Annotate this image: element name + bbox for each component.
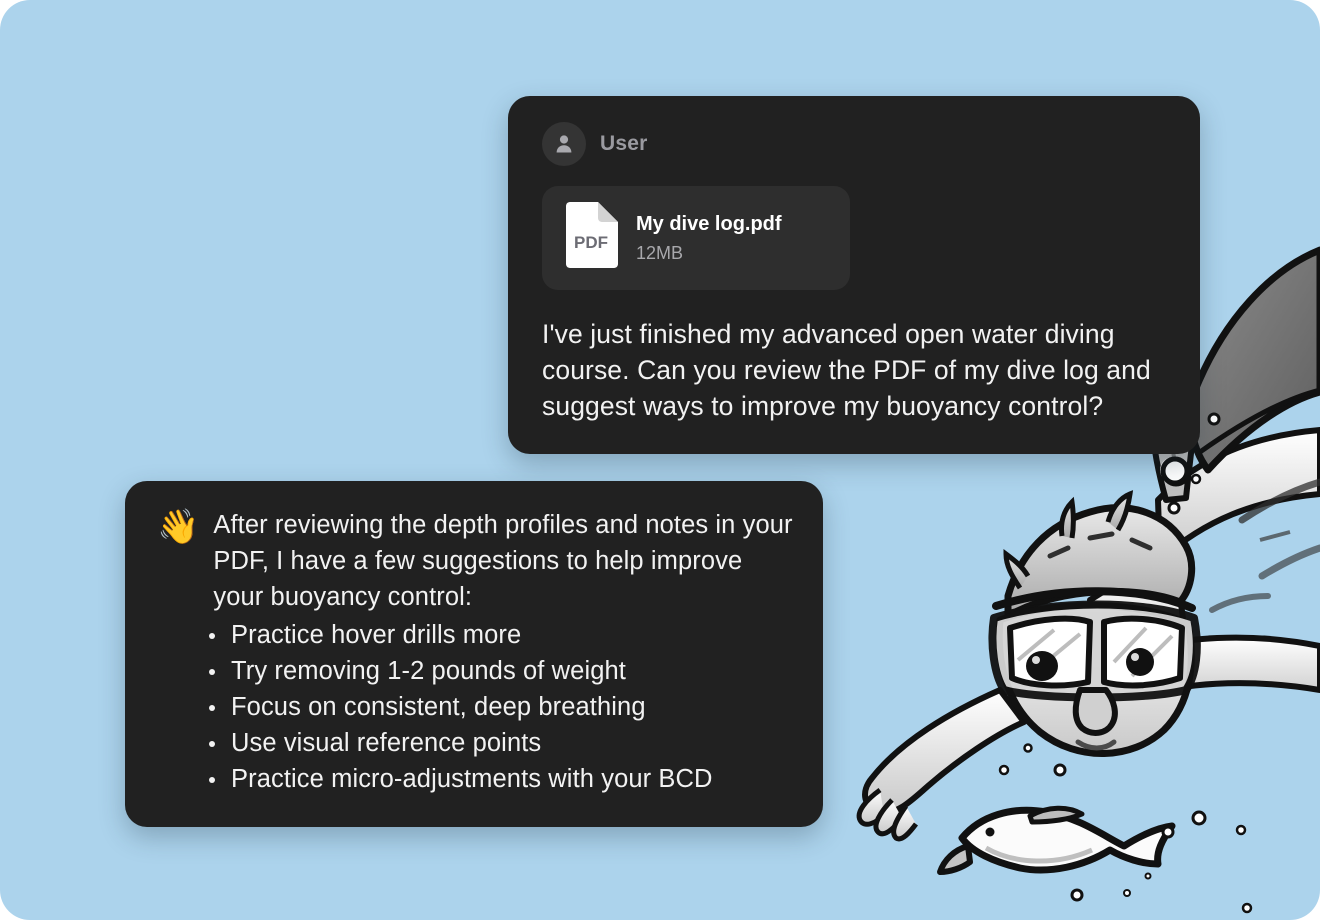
attachment-file-name: My dive log.pdf — [636, 212, 782, 237]
assistant-message-bubble: 👋 After reviewing the depth profiles and… — [125, 481, 823, 827]
fish — [940, 808, 1172, 872]
list-item: Focus on consistent, deep breathing — [207, 689, 793, 725]
attachment-card[interactable]: PDF My dive log.pdf 12MB — [542, 186, 850, 290]
bubbles — [1000, 385, 1251, 912]
attachment-meta: My dive log.pdf 12MB — [636, 212, 782, 265]
waving-hand-icon: 👋 — [157, 509, 199, 545]
avatar — [542, 122, 586, 166]
list-item: Practice micro-adjustments with your BCD — [207, 761, 793, 797]
svg-text:PDF: PDF — [574, 233, 608, 252]
user-message-text: I've just finished my advanced open wate… — [542, 316, 1164, 424]
list-item: Use visual reference points — [207, 725, 793, 761]
page-root: User PDF My dive log.pdf 12MB I've just … — [0, 0, 1320, 920]
list-item: Practice hover drills more — [207, 617, 793, 653]
diver-head — [992, 494, 1196, 754]
user-header: User — [542, 122, 1164, 166]
assistant-intro-row: 👋 After reviewing the depth profiles and… — [157, 507, 793, 615]
user-message-bubble: User PDF My dive log.pdf 12MB I've just … — [508, 96, 1200, 454]
list-item: Try removing 1-2 pounds of weight — [207, 653, 793, 689]
person-icon — [552, 132, 576, 156]
attachment-file-size: 12MB — [636, 242, 782, 265]
suggestion-list: Practice hover drills more Try removing … — [157, 617, 793, 797]
assistant-intro-text: After reviewing the depth profiles and n… — [213, 507, 793, 615]
user-name-label: User — [600, 132, 648, 156]
pdf-file-icon: PDF — [560, 202, 618, 274]
